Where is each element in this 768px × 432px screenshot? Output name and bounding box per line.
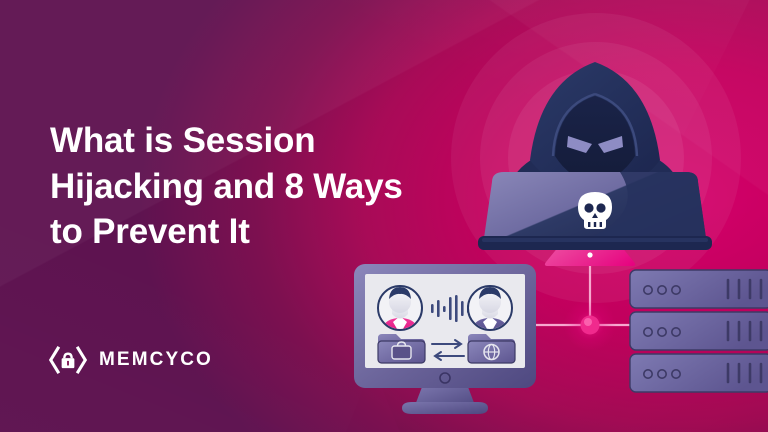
server-rack bbox=[624, 268, 768, 398]
chevron-right-icon bbox=[78, 348, 85, 372]
connection-node-highlight bbox=[584, 318, 592, 326]
chevron-left-icon bbox=[51, 348, 58, 372]
server-unit-2 bbox=[630, 312, 768, 350]
server-unit-3 bbox=[630, 354, 768, 392]
headline-line-1: What is Session bbox=[50, 118, 450, 164]
desktop-monitor bbox=[352, 262, 538, 427]
monitor-stand-base bbox=[402, 402, 488, 414]
padlock-in-chevrons-icon bbox=[48, 342, 88, 378]
laptop-base-edge bbox=[482, 238, 708, 242]
headline-line-3: to Prevent It bbox=[50, 209, 450, 255]
server-unit-1 bbox=[630, 270, 768, 308]
headline-line-2: Hijacking and 8 Ways bbox=[50, 164, 450, 210]
brand-wordmark: MEMCYCO bbox=[99, 349, 213, 371]
padlock-icon bbox=[392, 346, 411, 359]
page-title: What is Session Hijacking and 8 Ways to … bbox=[50, 118, 450, 255]
brand-logo[interactable]: MEMCYCO bbox=[48, 342, 213, 378]
hooded-hacker-illustration bbox=[470, 52, 720, 272]
cover-graphic: What is Session Hijacking and 8 Ways to … bbox=[0, 0, 768, 432]
